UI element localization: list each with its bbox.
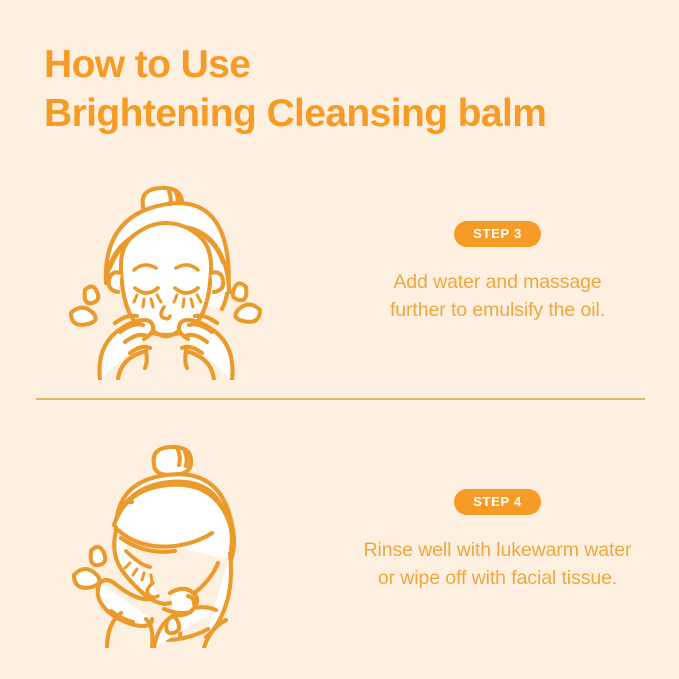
status-badge-step-4: STEP 4: [454, 489, 541, 515]
section-divider: [36, 398, 645, 400]
woman-massaging-face-with-both-hands-icon: [58, 165, 273, 380]
page-title: How to Use Brightening Cleansing balm: [44, 40, 644, 138]
step-3-description-line-2: further to emulsify the oil.: [390, 296, 605, 324]
status-badge-step-3: STEP 3: [454, 221, 541, 247]
step-3-description-line-1: Add water and massage: [393, 271, 601, 293]
step-3-illustration-cell: [0, 160, 330, 385]
page-title-line-1: How to Use: [44, 40, 644, 89]
step-4-text-cell: STEP 4 Rinse well with lukewarm water or…: [330, 420, 679, 660]
woman-rinsing-face-with-cupped-hands-icon: [58, 433, 273, 648]
page-title-line-2: Brightening Cleansing balm: [44, 89, 644, 138]
step-row-4: STEP 4 Rinse well with lukewarm water or…: [0, 420, 679, 660]
step-4-description-line-2: or wipe off with facial tissue.: [364, 564, 632, 592]
step-row-3: STEP 3 Add water and massage further to …: [0, 160, 679, 385]
step-4-description: Rinse well with lukewarm water or wipe o…: [364, 536, 632, 592]
step-4-illustration-cell: [0, 420, 330, 660]
step-3-text-cell: STEP 3 Add water and massage further to …: [330, 160, 679, 385]
how-to-use-infographic: How to Use Brightening Cleansing balm: [0, 0, 679, 679]
step-3-description: Add water and massage further to emulsif…: [390, 268, 605, 324]
step-4-description-line-1: Rinse well with lukewarm water: [364, 539, 632, 561]
